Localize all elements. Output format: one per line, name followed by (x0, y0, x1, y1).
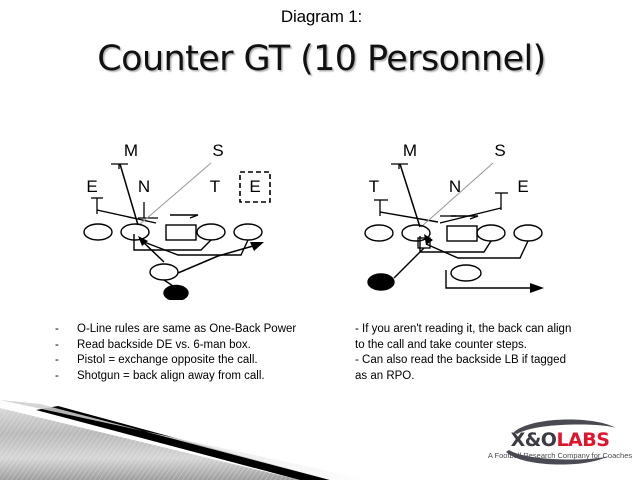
logo-tagline: A Football Research Company for Coaches (484, 451, 636, 460)
qb-mesh-line (394, 248, 424, 278)
defender-label-tackle: T (210, 177, 220, 196)
list-item: - Read backside DE vs. 6-man box. (55, 338, 345, 354)
tackle-crossing-line (380, 212, 438, 222)
right-play-svg: T N E M S (358, 130, 573, 300)
center-marker (166, 225, 196, 240)
defender-nose-stem (138, 202, 158, 218)
offensive-lineman (84, 224, 112, 240)
back-motion-path (446, 270, 532, 288)
tackle-pull-path (426, 241, 528, 258)
defender-end-right-stem (495, 193, 508, 210)
note-text: to the call and take counter steps. (355, 338, 640, 354)
note-text: O-Line rules are same as One-Back Power (77, 322, 296, 338)
end-crossing-line (97, 210, 156, 223)
page-title: Counter GT (10 Personnel) (0, 38, 643, 80)
defender-label-nose: N (138, 177, 150, 196)
bullet-marker: - (55, 353, 77, 369)
defender-label-tackle-left: T (369, 177, 379, 196)
defender-label-end-left: E (86, 177, 97, 196)
bullet-marker: - (55, 369, 77, 385)
note-text: Shotgun = back align away from call. (77, 369, 265, 385)
defender-label-mike: M (124, 141, 138, 160)
diagram-number-label: Diagram 1: (0, 7, 643, 27)
slide-canvas: Diagram 1: Counter GT (10 Personnel) E N… (0, 0, 643, 480)
safety-read-line (421, 163, 493, 227)
tackle-pull-path (144, 240, 248, 255)
running-back (451, 265, 481, 281)
logo-text-labs: LABS (556, 429, 609, 451)
exchange-line (164, 280, 173, 286)
list-item: - Pistol = exchange opposite the call. (55, 353, 345, 369)
note-text: Read backside DE vs. 6-man box. (77, 338, 251, 354)
logo-text-xo: X&O (511, 429, 557, 451)
brand-logo[interactable]: X&OLABS A Football Research Company for … (484, 414, 636, 472)
offensive-lineman (514, 225, 542, 241)
logo-wordmark: X&OLABS (484, 430, 636, 451)
center-block-path (170, 215, 198, 218)
band-wedge-texture (0, 408, 300, 480)
running-back (150, 264, 178, 280)
defender-label-safety: S (212, 141, 223, 160)
band-wedge-grey (0, 408, 300, 480)
bullet-marker: - (55, 338, 77, 354)
defender-label-end-right: E (517, 177, 528, 196)
defender-label-mike: M (403, 141, 417, 160)
ball-carrier-arrowhead (250, 242, 264, 251)
quarterback-ball-carrier (368, 274, 394, 290)
note-text: Pistol = exchange opposite the call. (77, 353, 258, 369)
band-accent-stripe (36, 406, 330, 480)
offensive-lineman (477, 225, 505, 241)
note-text: - Can also read the backside LB if tagge… (355, 353, 640, 369)
quarterback-ball-carrier (164, 286, 188, 301)
note-text: - If you aren't reading it, the back can… (355, 322, 640, 338)
center-marker (447, 226, 477, 241)
band-highlight-sliver (0, 400, 370, 480)
left-play-diagram: E N T E M S (78, 130, 293, 300)
list-item: - Shotgun = back align away from call. (55, 369, 345, 385)
bullet-marker: - (55, 322, 77, 338)
note-text: as an RPO. (355, 369, 640, 385)
defender-label-safety: S (494, 141, 505, 160)
back-motion-arrowhead (530, 283, 544, 293)
offensive-lineman (197, 224, 225, 240)
defender-label-end-boxed: E (249, 177, 260, 196)
offensive-lineman (121, 224, 149, 240)
offensive-lineman (365, 225, 393, 241)
notes-left-block: - O-Line rules are same as One-Back Powe… (55, 322, 345, 384)
offensive-lineman (234, 224, 262, 240)
right-play-diagram: T N E M S (358, 130, 573, 300)
notes-right-block: - If you aren't reading it, the back can… (355, 322, 640, 384)
left-play-svg: E N T E M S (78, 130, 293, 300)
list-item: - O-Line rules are same as One-Back Powe… (55, 322, 345, 338)
